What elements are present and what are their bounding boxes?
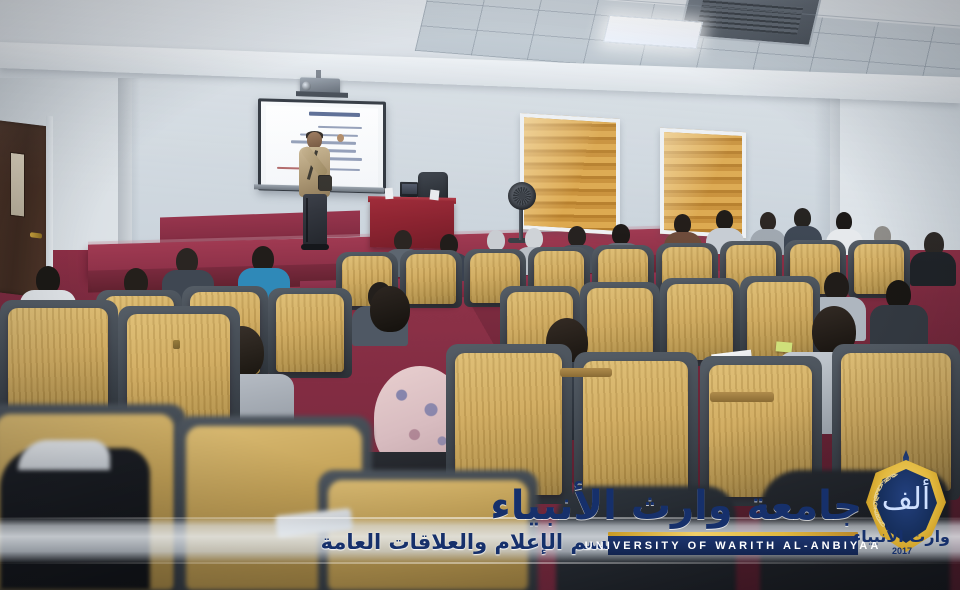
window-left bbox=[520, 113, 620, 235]
audience-head bbox=[487, 230, 505, 251]
department-name-arabic: قسم الإعلام والعلاقات العامة bbox=[321, 530, 622, 554]
door-glass-panel bbox=[10, 152, 25, 218]
audience-head bbox=[568, 226, 586, 247]
seat-armrest bbox=[710, 392, 774, 402]
paper-sheet bbox=[430, 189, 440, 200]
window-right bbox=[660, 128, 746, 239]
laptop-icon bbox=[400, 182, 418, 197]
seat-armrest bbox=[560, 368, 612, 377]
seat-back[interactable] bbox=[406, 254, 456, 304]
lecture-hall-photograph: قسم الإعلام والعلاقات العامة جامعة وارث … bbox=[0, 0, 960, 590]
university-name-english: UNIVERSITY OF WARITH AL-ANBIYAA bbox=[585, 540, 882, 552]
university-name-arabic: جامعة وارث الأنبياء bbox=[604, 480, 862, 532]
presenter-hand bbox=[337, 134, 344, 142]
university-crest: UNIVERSITY OF WARITH AL-ANBIYAA ألف وارث… bbox=[860, 452, 952, 560]
audience-head bbox=[394, 230, 412, 251]
crest-arabic-glyph: ألف bbox=[880, 478, 932, 522]
university-logo: جامعة وارث الأنبياء UNIVERSITY OF WARITH… bbox=[604, 478, 862, 562]
foreground-collar bbox=[18, 440, 110, 470]
projector-lens-icon bbox=[302, 81, 311, 90]
logo-english-bar: UNIVERSITY OF WARITH AL-ANBIYAA bbox=[608, 536, 858, 555]
slide-title-line bbox=[309, 112, 361, 117]
banner-bottom-rule bbox=[0, 562, 960, 564]
door-handle-icon[interactable] bbox=[30, 232, 42, 238]
paper-sheet bbox=[385, 188, 394, 200]
slide-text-line bbox=[318, 126, 363, 130]
presenter-at-board bbox=[295, 132, 335, 250]
audience-head bbox=[794, 208, 811, 228]
seat-back[interactable] bbox=[276, 294, 344, 372]
audience-head bbox=[674, 214, 691, 234]
presenter-shoulder-bag bbox=[319, 176, 332, 191]
fan-pole bbox=[519, 208, 523, 240]
audience-head bbox=[370, 286, 410, 332]
presenter-leg-split bbox=[306, 198, 308, 242]
audience-shoulders bbox=[910, 252, 956, 286]
audience-head bbox=[612, 224, 630, 245]
window-blind-sheen bbox=[524, 117, 616, 230]
presenter-shoes bbox=[301, 244, 329, 250]
audience-head bbox=[716, 210, 733, 230]
laptop-screen bbox=[402, 183, 417, 194]
seat-back[interactable] bbox=[667, 284, 733, 360]
note-card bbox=[776, 341, 793, 352]
audience-head bbox=[525, 228, 543, 249]
crest-year: 2017 bbox=[892, 546, 912, 556]
pedestal-fan-icon bbox=[508, 182, 536, 210]
audience-shoulders bbox=[870, 305, 928, 349]
